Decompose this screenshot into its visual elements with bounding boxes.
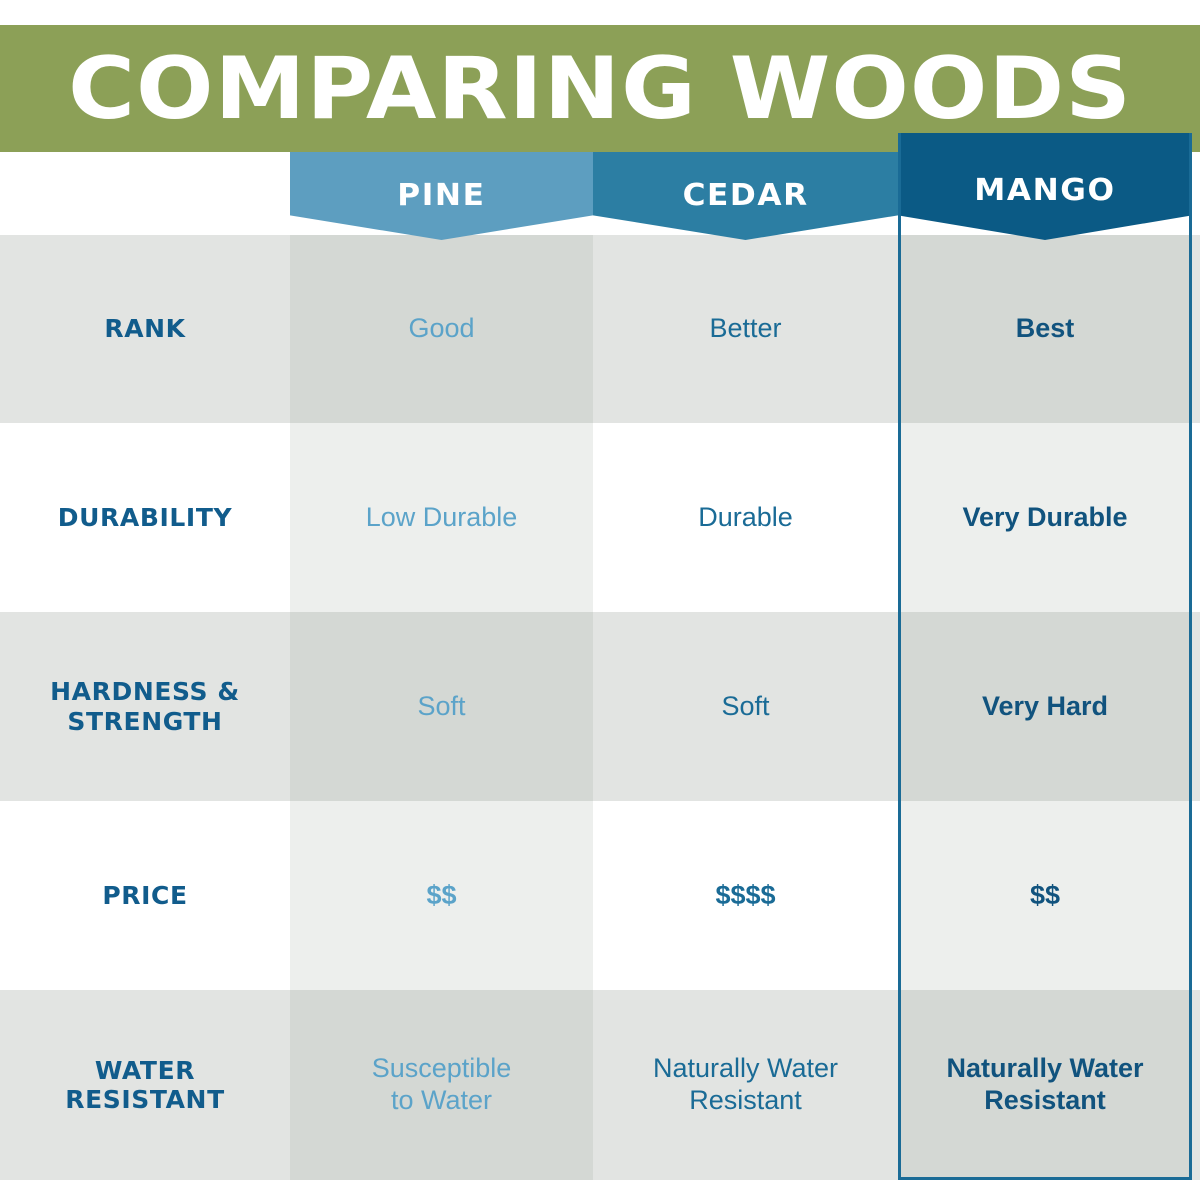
page-title: COMPARING WOODS	[0, 25, 1200, 152]
cell-durability-pine: Low Durable	[290, 423, 593, 612]
row-label-price: PRICE	[0, 801, 290, 990]
row-label-water-line1: WATER	[95, 1056, 195, 1086]
cell-water-mango-line1: Naturally Water	[946, 1053, 1143, 1085]
cell-price-mango: $$	[898, 801, 1192, 990]
cell-hardness-pine: Soft	[290, 612, 593, 801]
cell-rank-cedar: Better	[593, 235, 898, 423]
column-header-cedar-label: CEDAR	[682, 178, 808, 213]
cell-water-mango: Naturally Water Resistant	[898, 990, 1192, 1180]
cell-durability-cedar: Durable	[593, 423, 898, 612]
cell-water-pine-line1: Susceptible	[372, 1053, 512, 1085]
cell-water-cedar-line2: Resistant	[689, 1085, 802, 1117]
row-label-hardness-line1: HARDNESS &	[50, 677, 240, 707]
column-header-mango-label: MANGO	[974, 173, 1115, 208]
cell-durability-mango: Very Durable	[898, 423, 1192, 612]
row-label-water-resistant: WATER RESISTANT	[0, 990, 290, 1180]
cell-water-cedar: Naturally Water Resistant	[593, 990, 898, 1180]
cell-hardness-cedar: Soft	[593, 612, 898, 801]
comparison-infographic: COMPARING WOODS PINE CEDAR MANGO RANK Go…	[0, 0, 1200, 1200]
row-label-hardness: HARDNESS & STRENGTH	[0, 612, 290, 801]
cell-hardness-mango: Very Hard	[898, 612, 1192, 801]
cell-rank-mango: Best	[898, 235, 1192, 423]
cell-rank-pine: Good	[290, 235, 593, 423]
cell-water-pine: Susceptible to Water	[290, 990, 593, 1180]
row-label-hardness-line2: STRENGTH	[67, 707, 222, 737]
cell-price-cedar: $$$$	[593, 801, 898, 990]
cell-price-pine: $$	[290, 801, 593, 990]
row-label-durability: DURABILITY	[0, 423, 290, 612]
cell-water-pine-line2: to Water	[391, 1085, 492, 1117]
row-label-rank: RANK	[0, 235, 290, 423]
cell-water-mango-line2: Resistant	[984, 1085, 1106, 1117]
cell-water-cedar-line1: Naturally Water	[653, 1053, 838, 1085]
column-header-pine-label: PINE	[397, 178, 485, 213]
row-label-water-line2: RESISTANT	[65, 1085, 224, 1115]
